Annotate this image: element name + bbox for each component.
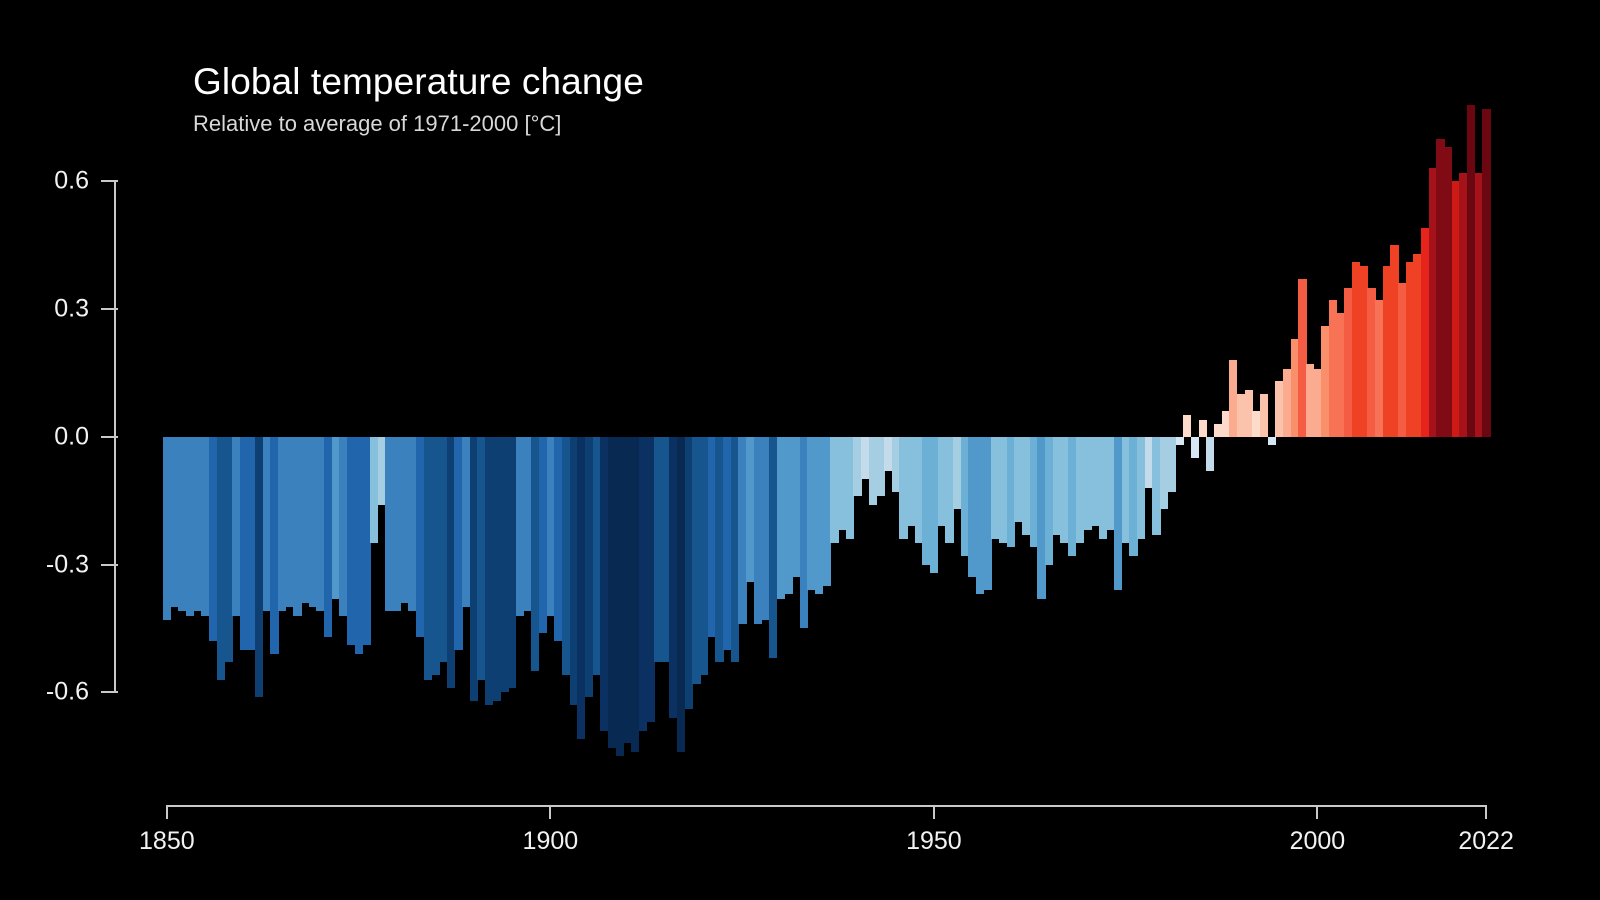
y-axis-tick-label: -0.6 bbox=[46, 680, 89, 705]
y-axis-tick-label: -0.3 bbox=[46, 552, 89, 577]
y-axis-tick-mark bbox=[101, 691, 118, 693]
x-axis-spine bbox=[167, 805, 1486, 807]
x-axis-tick-label: 2022 bbox=[1458, 829, 1514, 854]
y-axis-spine bbox=[114, 181, 116, 692]
x-axis-tick-mark bbox=[166, 805, 168, 819]
y-axis-tick-label: 0.0 bbox=[54, 424, 89, 449]
climate-stripes-chart: Global temperature change Relative to av… bbox=[0, 0, 1600, 900]
x-axis-tick-label: 1850 bbox=[139, 829, 195, 854]
bar bbox=[1482, 109, 1490, 437]
plot-area bbox=[163, 96, 1490, 786]
bar-series bbox=[163, 96, 1490, 786]
x-axis-tick-mark bbox=[933, 805, 935, 819]
y-axis-tick-mark bbox=[101, 564, 118, 566]
y-axis-tick-label: 0.6 bbox=[54, 169, 89, 194]
y-axis: 0.60.30.0-0.3-0.6 bbox=[0, 0, 163, 900]
bar bbox=[1206, 437, 1214, 471]
y-axis-tick-mark bbox=[101, 436, 118, 438]
bar bbox=[1183, 415, 1191, 436]
bar bbox=[1176, 437, 1184, 446]
x-axis-tick-label: 1900 bbox=[523, 829, 579, 854]
y-axis-tick-label: 0.3 bbox=[54, 296, 89, 321]
x-axis-tick-label: 1950 bbox=[906, 829, 962, 854]
x-axis-tick-mark bbox=[549, 805, 551, 819]
y-axis-tick-mark bbox=[101, 180, 118, 182]
bar bbox=[1268, 437, 1276, 446]
x-axis-tick-mark bbox=[1485, 805, 1487, 819]
bar bbox=[1260, 394, 1268, 437]
bar bbox=[1199, 420, 1207, 437]
bar bbox=[1191, 437, 1199, 458]
x-axis-tick-label: 2000 bbox=[1290, 829, 1346, 854]
y-axis-tick-mark bbox=[101, 308, 118, 310]
x-axis-tick-mark bbox=[1316, 805, 1318, 819]
